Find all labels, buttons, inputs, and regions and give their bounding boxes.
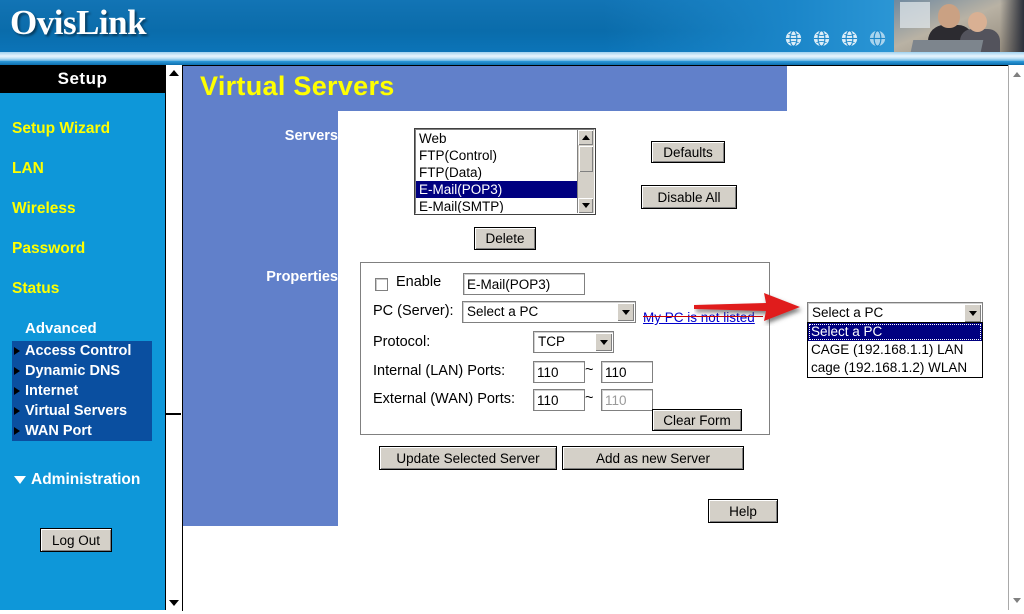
scrollbar-thumb[interactable]: [579, 146, 593, 172]
listbox-scrollbar[interactable]: [577, 130, 594, 213]
sidebar-item-dynamic-dns[interactable]: Dynamic DNS: [12, 361, 152, 381]
internal-port-to-field[interactable]: [601, 361, 653, 383]
globe-icon-3: [841, 30, 858, 47]
disable-all-button[interactable]: Disable All: [641, 185, 737, 209]
scroll-down-arrow-icon[interactable]: [578, 198, 593, 213]
globe-icon-group: [785, 30, 886, 47]
brand-logo: OvisLink: [10, 3, 146, 43]
pc-server-select-value: Select a PC: [467, 304, 538, 319]
triangle-bullet-icon: [14, 407, 20, 415]
sidebar-item-wireless[interactable]: Wireless: [12, 200, 76, 218]
banner-photo: [894, 0, 1024, 52]
triangle-bullet-icon: [14, 367, 20, 375]
list-item[interactable]: Web: [416, 130, 594, 147]
router-admin-page: OvisLink: [0, 0, 1024, 614]
sidebar-item-access-control[interactable]: Access Control: [12, 341, 152, 361]
sidebar-item-status[interactable]: Status: [12, 280, 59, 298]
sidebar: Setup Setup Wizard LAN Wireless Password…: [0, 65, 165, 610]
globe-icon-1: [785, 30, 802, 47]
list-item[interactable]: FTP(Data): [416, 164, 594, 181]
protocol-select-value: TCP: [538, 334, 565, 349]
sidebar-title: Setup: [0, 65, 165, 93]
sidebar-item-setup-wizard[interactable]: Setup Wizard: [12, 120, 110, 138]
sidebar-item-label: WAN Port: [25, 423, 92, 439]
clear-form-button[interactable]: Clear Form: [652, 409, 742, 431]
external-range-separator: ~: [585, 390, 593, 406]
log-out-button[interactable]: Log Out: [40, 528, 112, 552]
window-scrollbar[interactable]: [1008, 65, 1024, 610]
sidebar-item-label: Administration: [31, 471, 140, 488]
servers-listbox[interactable]: Web FTP(Control) FTP(Data) E-Mail(POP3) …: [415, 129, 595, 214]
external-port-to-field: [601, 389, 653, 411]
enable-checkbox[interactable]: [375, 278, 388, 291]
triangle-bullet-icon: [14, 387, 20, 395]
external-port-from-field[interactable]: [533, 389, 585, 411]
pc-dropdown-closed-box[interactable]: Select a PC: [807, 302, 983, 324]
sidebar-scrollbar[interactable]: [165, 65, 183, 610]
sidebar-item-label: Access Control: [25, 343, 131, 359]
site-banner: OvisLink: [0, 0, 1024, 52]
update-selected-server-button[interactable]: Update Selected Server: [379, 446, 557, 470]
page-title-bar: Virtual Servers: [183, 66, 787, 111]
pc-dropdown-value: Select a PC: [812, 305, 883, 320]
servers-label: Servers: [285, 128, 338, 144]
globe-icon-2: [813, 30, 830, 47]
protocol-label: Protocol:: [373, 334, 430, 350]
sidebar-heading-advanced: Advanced: [25, 320, 97, 337]
dropdown-option[interactable]: CAGE (192.168.1.1) LAN: [808, 341, 982, 359]
internal-range-separator: ~: [585, 362, 593, 378]
protocol-select[interactable]: TCP: [533, 331, 614, 353]
properties-label: Properties: [266, 269, 338, 285]
enable-label: Enable: [396, 274, 441, 290]
sidebar-item-lan[interactable]: LAN: [12, 160, 44, 178]
list-item[interactable]: FTP(Control): [416, 147, 594, 164]
dropdown-option-selected[interactable]: Select a PC: [808, 323, 982, 341]
list-item[interactable]: E-Mail(SMTP): [416, 198, 594, 214]
sidebar-item-administration[interactable]: Administration: [14, 471, 140, 489]
chevron-down-icon[interactable]: [964, 304, 981, 322]
triangle-bullet-icon: [14, 427, 20, 435]
labels-panel: [183, 111, 338, 526]
globe-icon-4: [869, 30, 886, 47]
sidebar-item-virtual-servers[interactable]: Virtual Servers: [12, 401, 152, 421]
sidebar-item-password[interactable]: Password: [12, 240, 85, 258]
scroll-up-arrow-icon[interactable]: [166, 65, 181, 80]
sidebar-item-label: Internet: [25, 383, 78, 399]
delete-button[interactable]: Delete: [474, 227, 536, 250]
defaults-button[interactable]: Defaults: [651, 141, 725, 163]
scroll-up-arrow-icon[interactable]: [578, 130, 593, 145]
properties-fieldset: Enable PC (Server): Select a PC Protocol…: [360, 262, 770, 435]
scrollbar-thumb[interactable]: [166, 80, 181, 415]
page-title: Virtual Servers: [200, 71, 395, 102]
internal-ports-label: Internal (LAN) Ports:: [373, 363, 505, 379]
pc-server-label: PC (Server):: [373, 303, 454, 319]
add-as-new-server-button[interactable]: Add as new Server: [562, 446, 744, 470]
external-ports-label: External (WAN) Ports:: [373, 391, 515, 407]
red-arrow-annotation-icon: [694, 290, 806, 326]
internal-port-from-field[interactable]: [533, 361, 585, 383]
sidebar-item-wan-port[interactable]: WAN Port: [12, 421, 152, 441]
triangle-bullet-icon: [14, 347, 20, 355]
scroll-up-arrow-icon[interactable]: [1009, 67, 1024, 82]
sidebar-item-label: Virtual Servers: [25, 403, 127, 419]
scroll-down-arrow-icon[interactable]: [166, 595, 181, 610]
sidebar-item-label: Dynamic DNS: [25, 363, 120, 379]
server-name-field[interactable]: [463, 273, 585, 295]
pc-dropdown-options[interactable]: Select a PC CAGE (192.168.1.1) LAN cage …: [807, 322, 983, 378]
chevron-down-icon[interactable]: [595, 333, 612, 351]
sidebar-frame: Setup Setup Wizard LAN Wireless Password…: [0, 65, 181, 610]
chevron-down-icon: [14, 476, 26, 484]
sidebar-item-internet[interactable]: Internet: [12, 381, 152, 401]
list-item-selected[interactable]: E-Mail(POP3): [416, 181, 594, 198]
chevron-down-icon[interactable]: [617, 303, 634, 321]
pc-server-select[interactable]: Select a PC: [462, 301, 636, 323]
help-button[interactable]: Help: [708, 499, 778, 523]
sidebar-advanced-group: Access Control Dynamic DNS Internet Virt…: [12, 341, 152, 441]
content-frame: Virtual Servers Servers Properties Web F…: [182, 65, 1010, 611]
banner-stripe-light: [0, 52, 1024, 61]
dropdown-option[interactable]: cage (192.168.1.2) WLAN: [808, 359, 982, 377]
scroll-down-arrow-icon[interactable]: [1009, 593, 1024, 608]
